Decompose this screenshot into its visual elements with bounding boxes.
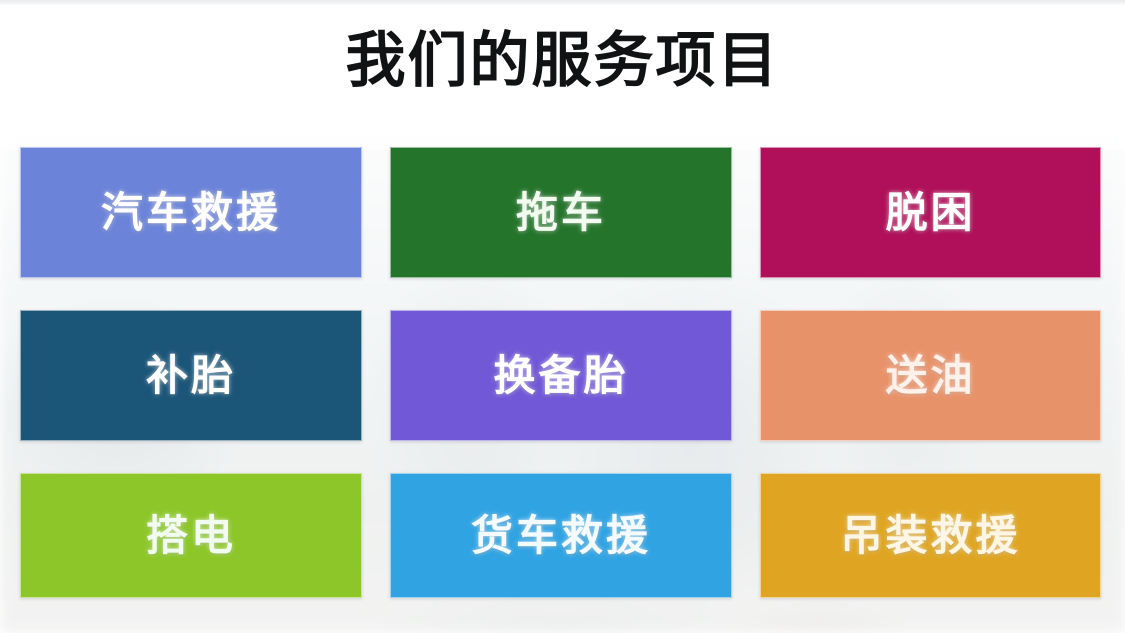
top-edge-strip [0,0,1125,5]
service-tile-label: 搭电 [146,514,236,558]
service-tile-tire-repair[interactable]: 补胎 [20,310,362,441]
service-tile-towing[interactable]: 拖车 [390,147,732,278]
service-tile-spare-tire-change[interactable]: 换备胎 [390,310,732,441]
service-tile-label: 脱困 [885,191,975,235]
service-tile-extrication[interactable]: 脱困 [760,147,1101,278]
service-tile-truck-rescue[interactable]: 货车救援 [390,473,732,598]
service-tile-label: 吊装救援 [840,514,1020,558]
service-poster: 我们的服务项目 汽车救援 拖车 脱困 补胎 换备胎 送油 搭电 货车救援 吊装救… [0,0,1125,633]
service-tile-grid: 汽车救援 拖车 脱困 补胎 换备胎 送油 搭电 货车救援 吊装救援 [20,147,1101,600]
service-tile-label: 送油 [885,354,975,398]
page-title: 我们的服务项目 [0,24,1125,98]
service-tile-label: 货车救援 [471,514,651,558]
service-tile-label: 换备胎 [493,354,628,398]
service-tile-car-rescue[interactable]: 汽车救援 [20,147,362,278]
service-tile-crane-rescue[interactable]: 吊装救援 [760,473,1101,598]
service-tile-label: 拖车 [516,191,606,235]
service-tile-label: 汽车救援 [101,191,281,235]
service-tile-jump-start[interactable]: 搭电 [20,473,362,598]
service-tile-label: 补胎 [146,354,236,398]
service-tile-fuel-delivery[interactable]: 送油 [760,310,1101,441]
